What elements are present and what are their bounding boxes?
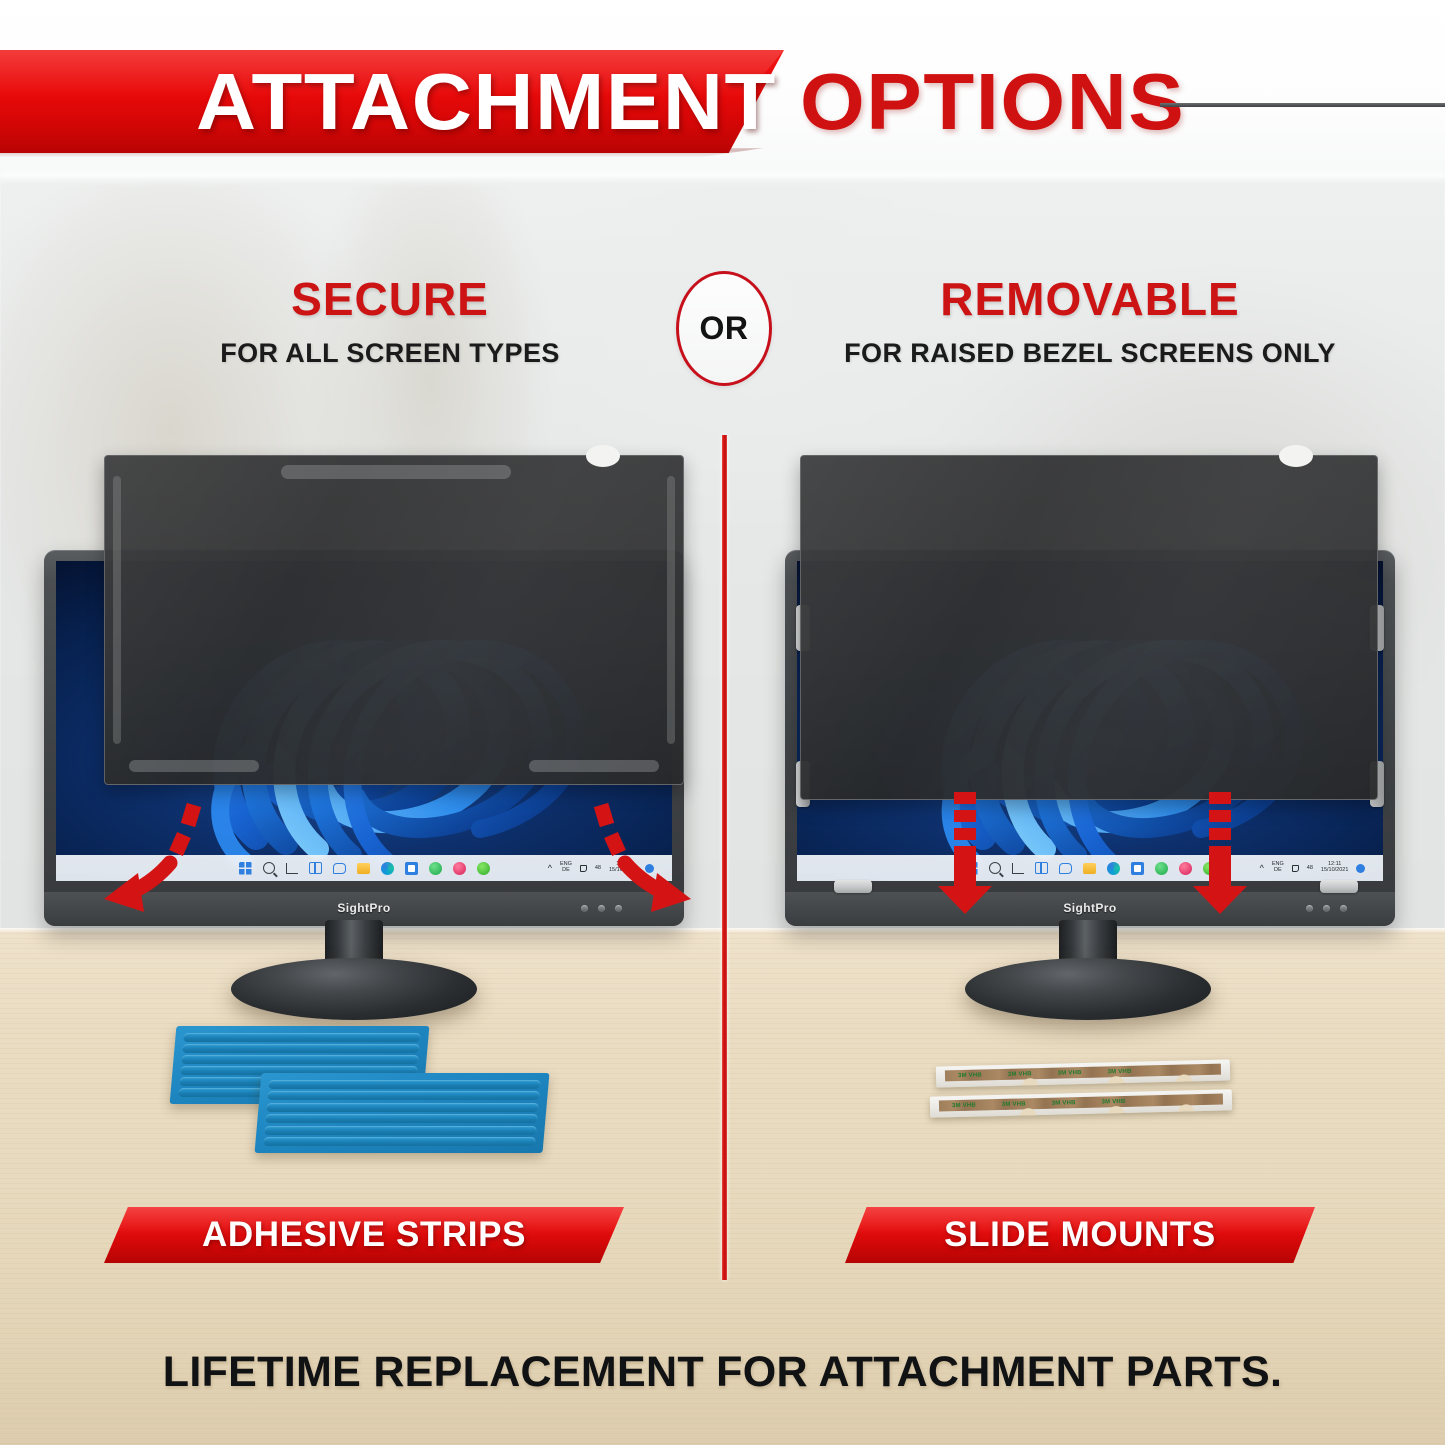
section-heading-secure: SECURE FOR ALL SCREEN TYPES — [60, 272, 720, 371]
filter-side-rail-left-b — [667, 476, 675, 744]
widgets-icon[interactable] — [309, 862, 322, 874]
header-rule — [1160, 103, 1445, 107]
arrow-left-outward — [100, 795, 230, 925]
filter-camera-notch-right — [1279, 445, 1313, 467]
notification-icon[interactable] — [1356, 864, 1365, 873]
taskbar-icons-right — [965, 862, 1216, 875]
slide-mount-label: 3M VHB — [1052, 1101, 1076, 1108]
adhesive-strip — [266, 1103, 539, 1112]
filter-glare-right — [801, 456, 1377, 799]
filter-bottom-tab-left-b — [529, 760, 659, 772]
or-badge: OR — [676, 271, 772, 386]
header: ATTACHMENT OPTIONS — [0, 0, 1445, 178]
filter-side-rail-left-a — [113, 476, 121, 744]
monitor-right-stand-base — [965, 958, 1211, 1020]
taskbar-tray-right: ^ ENG DE 48 12:11 15/10/2021 — [1260, 862, 1366, 874]
header-title-secondary: OPTIONS — [800, 58, 1185, 146]
edge-icon[interactable] — [1107, 862, 1120, 875]
taskview-icon[interactable] — [1012, 863, 1024, 874]
edge-icon[interactable] — [381, 862, 394, 875]
explorer-icon[interactable] — [357, 863, 370, 874]
filter-top-tab-left — [281, 465, 511, 479]
monitor-left-brand: SightPro — [337, 901, 390, 915]
slide-mount-label: 3M VHB — [1058, 1071, 1082, 1078]
store-icon[interactable] — [405, 862, 418, 875]
section-heading-removable: REMOVABLE FOR RAISED BEZEL SCREENS ONLY — [760, 272, 1420, 371]
led-1[interactable] — [1306, 905, 1313, 912]
app-green-icon[interactable] — [429, 862, 442, 875]
taskbar-clock[interactable]: 12:11 15/10/2021 — [1321, 862, 1349, 874]
slide-mount-clip-bottom-left[interactable] — [834, 880, 872, 893]
arrow-right-outward — [565, 795, 695, 925]
slide-mount-label: 3M VHB — [1002, 1102, 1026, 1109]
adhesive-strip-sheet-2[interactable] — [255, 1073, 550, 1153]
filter-camera-notch-left — [586, 445, 620, 467]
slide-mount-label: 3M VHB — [1102, 1099, 1126, 1106]
tag-label-adhesive-strips: ADHESIVE STRIPS — [202, 1215, 526, 1255]
explorer-icon[interactable] — [1083, 863, 1096, 874]
chevron-up-icon[interactable]: ^ — [548, 864, 552, 873]
monitor-left-stand-base — [231, 958, 477, 1020]
slide-mount-label: 3M VHB — [1108, 1069, 1132, 1076]
app-lime-icon[interactable] — [477, 862, 490, 875]
section-subtitle-removable: FOR RAISED BEZEL SCREENS ONLY — [760, 335, 1420, 371]
taskbar-icons-left — [239, 862, 490, 875]
footer-text: LIFETIME REPLACEMENT FOR ATTACHMENT PART… — [0, 1348, 1445, 1397]
led-2[interactable] — [1323, 905, 1330, 912]
tag-banner-slide-mounts: SLIDE MOUNTS — [845, 1207, 1315, 1263]
section-title-secure: SECURE — [60, 272, 720, 326]
privacy-filter-sheet-right[interactable] — [800, 455, 1378, 800]
widgets-icon[interactable] — [1035, 862, 1048, 874]
adhesive-strip — [183, 1033, 421, 1042]
section-subtitle-secure: FOR ALL SCREEN TYPES — [60, 335, 720, 371]
privacy-filter-sheet-left[interactable] — [104, 455, 684, 785]
adhesive-strip — [267, 1091, 540, 1100]
adhesive-strip — [268, 1080, 541, 1089]
adhesive-strip — [265, 1114, 538, 1123]
network-icon[interactable] — [1292, 865, 1299, 872]
slide-mount-label: 3M VHB — [952, 1103, 976, 1110]
infographic-canvas: ATTACHMENT OPTIONS SECURE FOR ALL SCREEN… — [0, 0, 1445, 1445]
adhesive-strip — [264, 1126, 537, 1135]
slide-mount-label: 3M VHB — [1008, 1072, 1032, 1079]
arrow-down-left — [930, 790, 1000, 915]
volume-level[interactable]: 48 — [1307, 865, 1313, 871]
tag-banner-adhesive-strips: ADHESIVE STRIPS — [104, 1207, 624, 1263]
section-title-removable: REMOVABLE — [760, 272, 1420, 326]
chat-icon[interactable] — [1059, 863, 1072, 874]
search-icon[interactable] — [263, 862, 275, 874]
chevron-up-icon[interactable]: ^ — [1260, 864, 1264, 873]
filter-glare-left — [105, 456, 683, 784]
monitor-right-brand: SightPro — [1063, 901, 1116, 915]
taskview-icon[interactable] — [286, 863, 298, 874]
taskbar-right: ^ ENG DE 48 12:11 15/10/2021 — [797, 855, 1383, 881]
slide-mount-clip-bottom-right[interactable] — [1320, 880, 1358, 893]
app-green-icon[interactable] — [1155, 862, 1168, 875]
monitor-right-indicator-leds — [1306, 905, 1347, 912]
tag-label-slide-mounts: SLIDE MOUNTS — [944, 1215, 1216, 1255]
language-indicator[interactable]: ENG DE — [1272, 862, 1284, 874]
start-icon[interactable] — [239, 862, 252, 875]
arrow-down-right — [1185, 790, 1255, 915]
app-red-icon[interactable] — [453, 862, 466, 875]
store-icon[interactable] — [1131, 862, 1144, 875]
filter-bottom-tab-left-a — [129, 760, 259, 772]
or-badge-label: OR — [700, 310, 749, 347]
adhesive-strip — [182, 1044, 420, 1053]
chat-icon[interactable] — [333, 863, 346, 874]
led-3[interactable] — [1340, 905, 1347, 912]
slide-mount-label: 3M VHB — [958, 1073, 982, 1080]
vertical-divider — [722, 435, 727, 1280]
adhesive-strip — [181, 1055, 419, 1064]
adhesive-strip — [263, 1137, 536, 1146]
header-title-primary: ATTACHMENT — [196, 58, 777, 146]
